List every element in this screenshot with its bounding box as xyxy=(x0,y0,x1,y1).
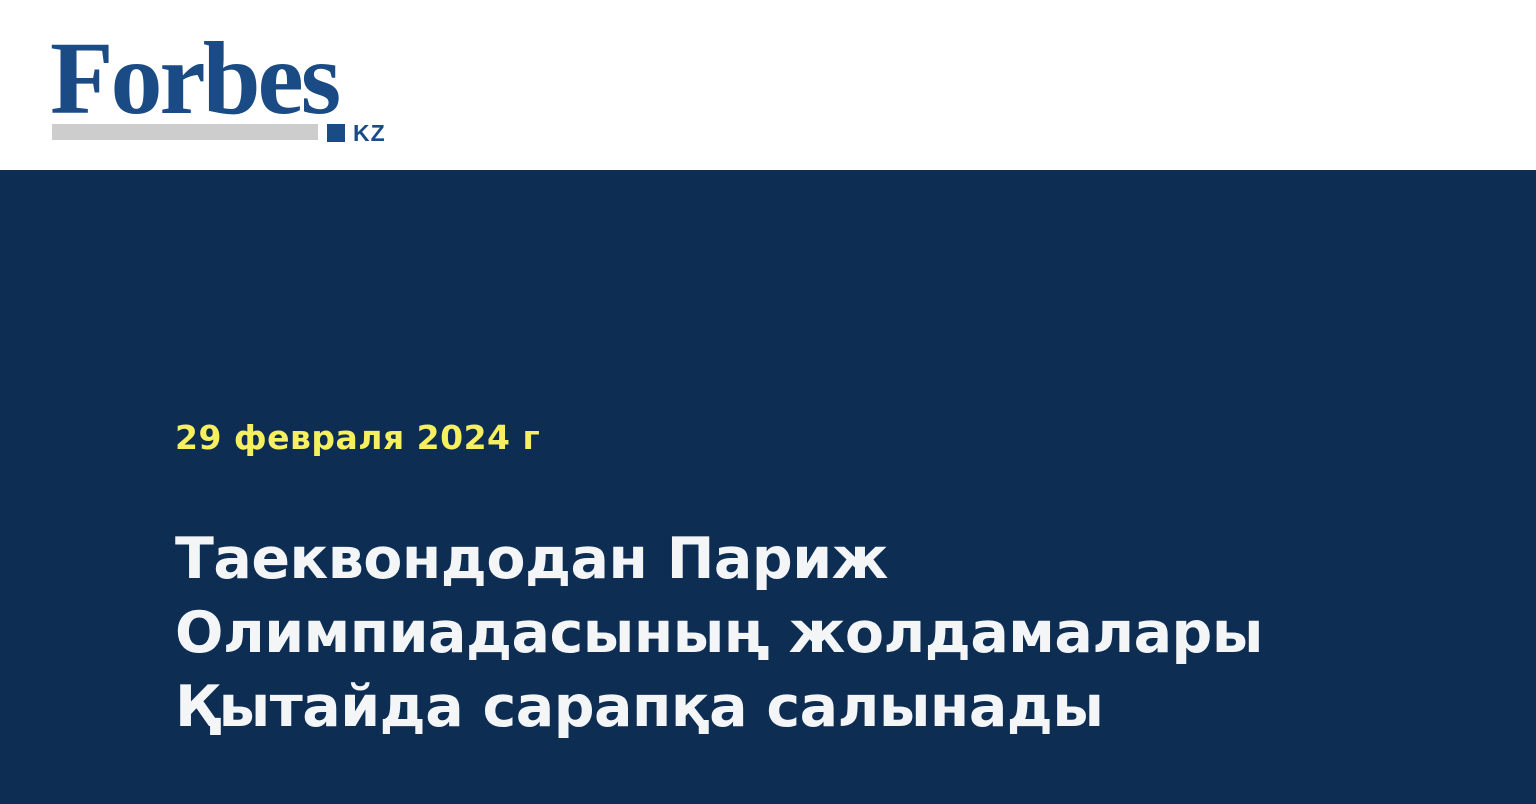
logo-wordmark-text: Forbes xyxy=(50,27,338,131)
article-headline: Таеквондодан Париж Олимпиадасының жолдам… xyxy=(175,522,1415,744)
headline-line-2: Олимпиадасының жолдамалары xyxy=(175,596,1415,670)
forbes-kz-logo[interactable]: Forbes KZ xyxy=(50,27,420,145)
article-publish-date: 29 февраля 2024 г xyxy=(175,418,540,458)
headline-line-1: Таеквондодан Париж xyxy=(175,522,1415,596)
site-header: Forbes KZ xyxy=(0,0,1536,170)
article-hero-banner: 29 февраля 2024 г Таеквондодан Париж Оли… xyxy=(0,170,1536,804)
logo-tld-text: KZ xyxy=(353,122,386,145)
logo-square-icon xyxy=(327,124,345,142)
headline-line-3: Қытайда сарапқа салынады xyxy=(175,670,1415,744)
article-hero-page: Forbes KZ 29 февраля 2024 г Таеквондодан… xyxy=(0,0,1536,804)
logo-underline-bar xyxy=(52,124,318,140)
